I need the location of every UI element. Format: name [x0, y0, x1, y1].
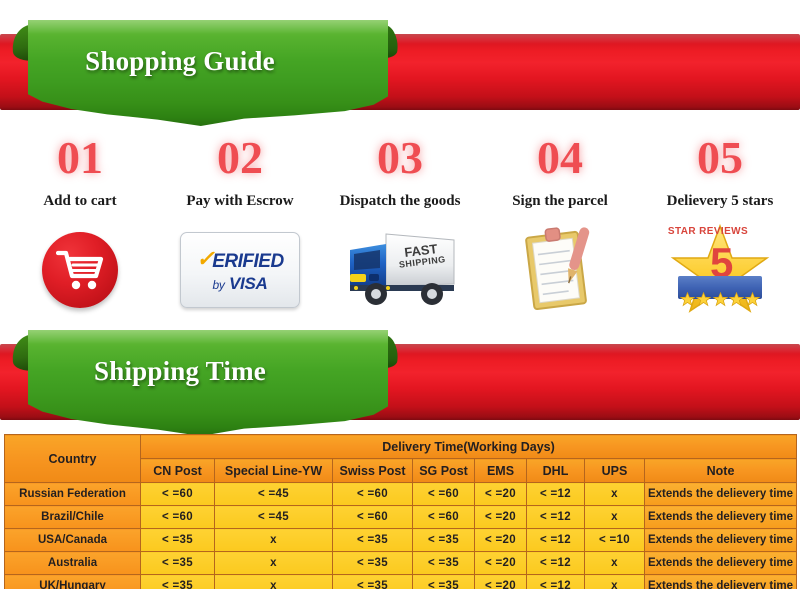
cell-swiss-post: < =35	[333, 552, 413, 575]
cell-swiss-post: < =35	[333, 575, 413, 589]
clipboard-pen-icon	[520, 224, 600, 316]
cell-note: Extends the delievery time	[645, 483, 797, 506]
cell-cn-post: < =60	[141, 506, 215, 529]
cell-note: Extends the delievery time	[645, 506, 797, 529]
checkmark-icon: ✓	[196, 246, 214, 272]
step-icon-slot: FAST SHIPPING	[336, 222, 464, 318]
ribbon-green-panel	[28, 330, 388, 436]
cell-cn-post: < =35	[141, 575, 215, 589]
cell-swiss-post: < =35	[333, 529, 413, 552]
cell-dhl: < =12	[527, 506, 585, 529]
step-label: Sign the parcel	[512, 193, 608, 210]
step-label: Add to cart	[43, 193, 116, 210]
step-number: 02	[217, 135, 263, 181]
step-02: 02 Pay with Escrow ✓ERIFIED by VISA	[160, 135, 320, 335]
column-header-country: Country	[5, 435, 141, 483]
cell-note: Extends the delievery time	[645, 575, 797, 589]
cell-dhl: < =12	[527, 529, 585, 552]
visa-verified-text-row: ✓ERIFIED	[196, 247, 283, 273]
cell-special-line-yw: x	[215, 575, 333, 589]
mini-star-icon	[713, 292, 728, 307]
cell-country: USA/Canada	[5, 529, 141, 552]
shopping-steps: 01 Add to cart 02 Pay with Escrow	[0, 135, 800, 335]
table-row: Australia < =35 x < =35 < =35 < =20 < =1…	[5, 552, 797, 575]
table-row: UK/Hungary < =35 x < =35 < =35 < =20 < =…	[5, 575, 797, 589]
cell-swiss-post: < =60	[333, 506, 413, 529]
step-icon-slot	[520, 222, 600, 318]
visa-by-text: by	[213, 278, 225, 292]
table-row: Russian Federation < =60 < =45 < =60 < =…	[5, 483, 797, 506]
table-head: Country Delivery Time(Working Days) CN P…	[5, 435, 797, 483]
step-label: Delievery 5 stars	[667, 193, 774, 210]
cell-ups: x	[585, 506, 645, 529]
step-03: 03 Dispatch the goods	[320, 135, 480, 335]
step-number: 01	[57, 135, 103, 181]
column-header-ups: UPS	[585, 459, 645, 483]
cell-ems: < =20	[475, 506, 527, 529]
shipping-time-table: Country Delivery Time(Working Days) CN P…	[4, 434, 797, 589]
mini-star-icon	[745, 292, 760, 307]
table-header-row-group: Country Delivery Time(Working Days)	[5, 435, 797, 459]
column-header-swiss-post: Swiss Post	[333, 459, 413, 483]
visa-verified-text: ERIFIED	[212, 251, 283, 273]
step-icon-slot	[42, 222, 118, 318]
column-header-group-delivery-time: Delivery Time(Working Days)	[141, 435, 797, 459]
step-label: Dispatch the goods	[340, 193, 461, 210]
column-header-ems: EMS	[475, 459, 527, 483]
column-header-dhl: DHL	[527, 459, 585, 483]
cell-special-line-yw: < =45	[215, 506, 333, 529]
visa-brand-row: by VISA	[213, 274, 268, 294]
cell-cn-post: < =35	[141, 552, 215, 575]
verified-by-visa-icon: ✓ERIFIED by VISA	[180, 232, 300, 308]
cell-sg-post: < =35	[413, 529, 475, 552]
cell-sg-post: < =35	[413, 575, 475, 589]
cell-country: Brazil/Chile	[5, 506, 141, 529]
cell-note: Extends the delievery time	[645, 552, 797, 575]
ribbon-green-panel	[28, 20, 388, 126]
step-number: 04	[537, 135, 583, 181]
cell-country: Australia	[5, 552, 141, 575]
star-review-banner-text: STAR REVIEWS	[666, 226, 750, 237]
cell-ems: < =20	[475, 529, 527, 552]
shipping-time-table-wrap: Country Delivery Time(Working Days) CN P…	[4, 434, 796, 589]
mini-star-row	[680, 292, 760, 307]
column-header-note: Note	[645, 459, 797, 483]
cell-sg-post: < =35	[413, 552, 475, 575]
visa-brand-text: VISA	[229, 274, 267, 293]
table-row: Brazil/Chile < =60 < =45 < =60 < =60 < =…	[5, 506, 797, 529]
five-star-review-icon: 5 STAR REVIEWS	[666, 222, 774, 318]
cell-special-line-yw: < =45	[215, 483, 333, 506]
shopping-guide-banner: Shopping Guide	[0, 20, 800, 112]
cell-note: Extends the delievery time	[645, 529, 797, 552]
cell-ups: x	[585, 483, 645, 506]
cell-ems: < =20	[475, 575, 527, 589]
step-label: Pay with Escrow	[186, 193, 293, 210]
cell-special-line-yw: x	[215, 552, 333, 575]
step-04: 04 Sign the parcel	[480, 135, 640, 335]
cell-dhl: < =12	[527, 483, 585, 506]
cell-ems: < =20	[475, 552, 527, 575]
shopping-cart-icon	[42, 232, 118, 308]
shipping-guide-page: Shopping Guide 01 Add to cart	[0, 0, 800, 589]
cell-ems: < =20	[475, 483, 527, 506]
mini-star-icon	[680, 292, 695, 307]
shipping-time-banner: Shipping Time	[0, 330, 800, 422]
step-05: 05 Delievery 5 stars 5	[640, 135, 800, 335]
delivery-truck-icon: FAST SHIPPING	[336, 228, 464, 312]
cell-cn-post: < =35	[141, 529, 215, 552]
cell-country: UK/Hungary	[5, 575, 141, 589]
step-number: 05	[697, 135, 743, 181]
cell-sg-post: < =60	[413, 506, 475, 529]
cell-cn-post: < =60	[141, 483, 215, 506]
step-icon-slot: 5 STAR REVIEWS	[666, 222, 774, 318]
step-01: 01 Add to cart	[0, 135, 160, 335]
cell-dhl: < =12	[527, 575, 585, 589]
cell-ups: x	[585, 552, 645, 575]
cell-ups: < =10	[585, 529, 645, 552]
column-header-cn-post: CN Post	[141, 459, 215, 483]
step-icon-slot: ✓ERIFIED by VISA	[180, 222, 300, 318]
cell-ups: x	[585, 575, 645, 589]
column-header-special-line-yw: Special Line-YW	[215, 459, 333, 483]
cell-sg-post: < =60	[413, 483, 475, 506]
mini-star-icon	[696, 292, 711, 307]
mini-star-icon	[729, 292, 744, 307]
cell-dhl: < =12	[527, 552, 585, 575]
cell-swiss-post: < =60	[333, 483, 413, 506]
column-header-sg-post: SG Post	[413, 459, 475, 483]
cell-country: Russian Federation	[5, 483, 141, 506]
table-row: USA/Canada < =35 x < =35 < =35 < =20 < =…	[5, 529, 797, 552]
table-body: Russian Federation < =60 < =45 < =60 < =…	[5, 483, 797, 589]
cell-special-line-yw: x	[215, 529, 333, 552]
step-number: 03	[377, 135, 423, 181]
